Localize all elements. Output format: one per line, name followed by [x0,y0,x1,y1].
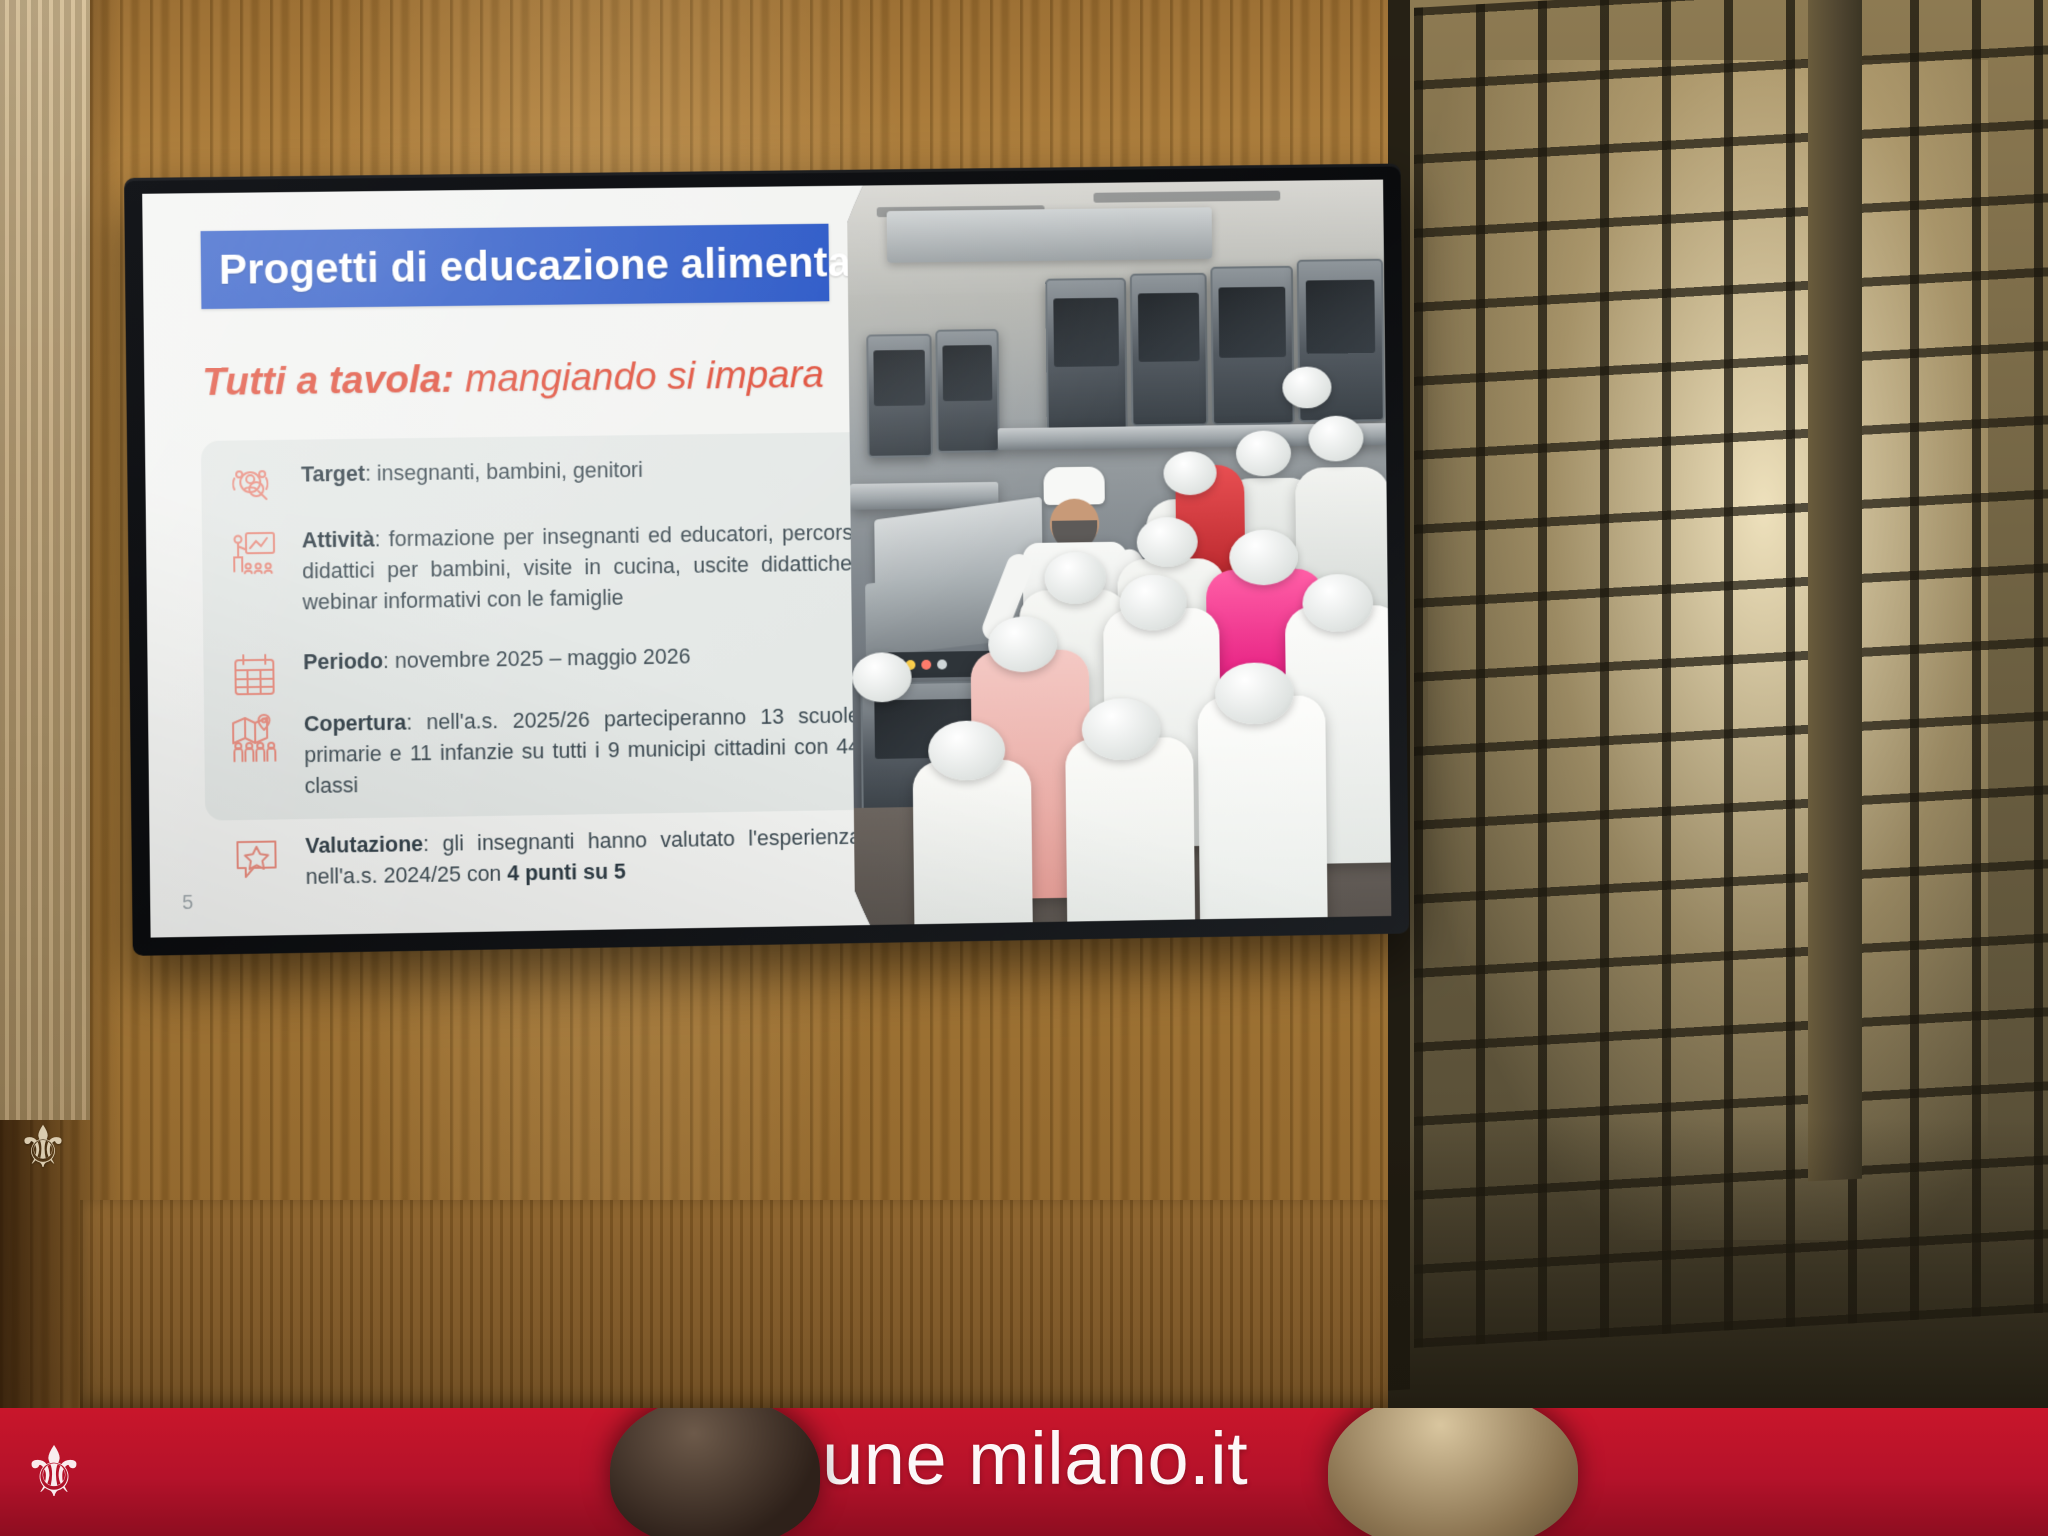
audience-head [1328,1408,1578,1536]
star-review-icon [229,831,283,886]
page-title: Progetti di educazione alimentare [201,238,891,294]
list-item-text: Copertura: nell'a.s. 2025/26 partecipera… [304,701,861,802]
list-item: Copertura: nell'a.s. 2025/26 partecipera… [228,700,872,803]
list-item-sep: : [374,527,389,551]
slide-title-bar: Progetti di educazione alimentare [201,224,830,309]
presentation-slide: Progetti di educazione alimentare Tutti … [142,180,1391,938]
list-item-label: Valutazione [305,832,423,858]
list-item: Periodo: novembre 2025 – maggio 2026 [227,639,871,703]
list-item-sep: : [406,710,427,734]
city-crest-icon: ⚜ [8,1426,100,1518]
calendar-icon [227,648,281,703]
map-people-icon [228,710,282,765]
child-gown [1065,737,1195,927]
list-item-body: insegnanti, bambini, genitori [377,458,643,486]
list-item-label: Attività [302,527,375,552]
list-item-sep: : [383,649,395,673]
television: Progetti di educazione alimentare Tutti … [124,164,1409,956]
list-item-text: Attività: formazione per insegnanti ed e… [302,518,859,619]
extractor-hood [887,207,1213,262]
list-item-sep: : [365,462,377,486]
oven-unit [1210,266,1294,426]
list-item-label: Periodo [303,649,383,674]
list-item-emphasis: 4 punti su 5 [507,860,626,886]
subtitle-light: mangiando si impara [454,353,824,401]
banner-label: mune milano.it [760,1416,1248,1501]
oven-unit [1045,278,1127,432]
window-shadow [1388,1118,2048,1418]
list-item: Attività: formazione per insegnanti ed e… [226,517,870,619]
target-audience-icon [225,460,279,515]
list-item-text: Periodo: novembre 2025 – maggio 2026 [303,639,859,678]
list-item-label: Target [301,462,365,487]
window-pillar [1808,0,1862,1181]
audience-head [610,1408,820,1536]
oven-unit [866,334,933,458]
event-banner: ⚜ mune milano.it [0,1408,2048,1536]
city-crest-icon: ⚜ [6,1112,80,1184]
window-grille [1388,0,2048,1536]
teacher-whiteboard-icon [226,526,280,581]
tv-screen: Progetti di educazione alimentare Tutti … [142,180,1391,938]
list-item: Target: insegnanti, bambini, genitori [225,452,869,515]
subtitle-strong: Tutti a tavola: [202,358,454,404]
kitchen-photo [847,180,1392,928]
oven-unit [1130,273,1208,427]
list-item-text: Valutazione: gli insegnanti hanno valuta… [305,822,861,893]
list-item-label: Copertura [304,711,407,737]
list-item-sep: : [423,832,443,856]
child-gown [913,759,1034,927]
stage-front-panel [80,1200,1400,1410]
list-item-body: novembre 2025 – maggio 2026 [395,644,691,672]
list-item-text: Target: insegnanti, bambini, genitori [301,452,857,490]
oven-unit [935,329,1000,453]
list-item: Valutazione: gli insegnanti hanno valuta… [229,822,873,895]
content-card: Target: insegnanti, bambini, genitori [201,432,890,821]
slide-page-number: 5 [182,892,193,915]
child-gown [1198,695,1328,927]
curtain [0,0,90,1120]
